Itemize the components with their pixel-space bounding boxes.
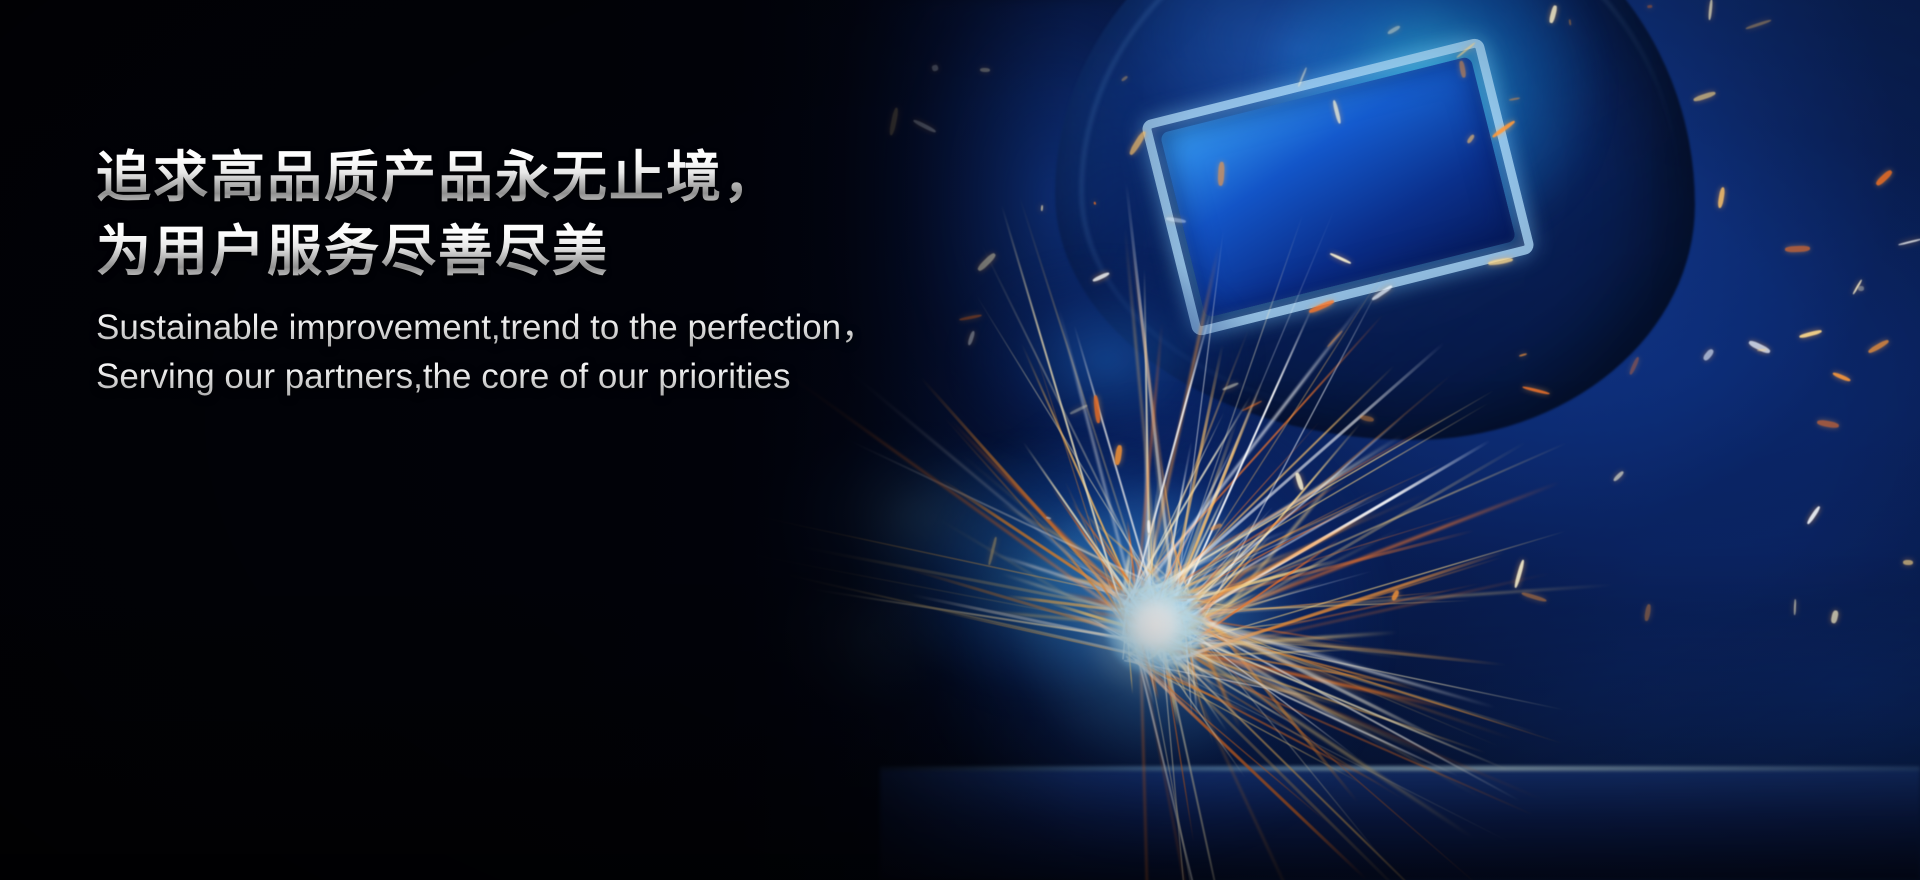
stray-spark bbox=[1745, 19, 1771, 31]
stray-spark bbox=[1128, 130, 1147, 156]
headline-cn-line-1: 追求高品质产品永无止境， bbox=[96, 140, 996, 214]
stray-spark bbox=[1867, 338, 1889, 354]
stray-spark bbox=[931, 65, 938, 72]
hero-copy: 追求高品质产品永无止境， 为用户服务尽善尽美 Sustainable impro… bbox=[96, 140, 996, 400]
stray-spark bbox=[1456, 42, 1476, 59]
stray-spark bbox=[1903, 560, 1913, 565]
subhead-en-line-2: Serving our partners,the core of our pri… bbox=[96, 353, 996, 400]
stray-spark bbox=[1521, 592, 1547, 604]
stray-spark bbox=[980, 68, 991, 72]
stray-spark bbox=[1294, 472, 1304, 491]
stray-spark bbox=[1488, 256, 1514, 265]
stray-spark bbox=[1569, 19, 1572, 26]
stray-spark bbox=[889, 108, 900, 136]
stray-spark bbox=[1492, 120, 1516, 139]
stray-spark bbox=[1387, 25, 1401, 36]
welding-arc-core bbox=[1105, 575, 1205, 675]
stray-spark bbox=[1114, 444, 1123, 465]
stray-spark bbox=[1612, 470, 1624, 482]
stray-spark bbox=[1708, 0, 1713, 20]
stray-spark bbox=[1166, 217, 1186, 224]
headline-cn-line-2: 为用户服务尽善尽美 bbox=[96, 214, 996, 288]
stray-spark bbox=[1647, 5, 1652, 9]
stray-spark bbox=[1332, 100, 1342, 124]
stray-spark bbox=[1519, 353, 1527, 357]
stray-spark bbox=[1548, 5, 1557, 23]
stray-spark bbox=[1147, 520, 1150, 533]
spark-rays bbox=[0, 0, 1920, 880]
stray-spark bbox=[1121, 75, 1129, 82]
stray-spark bbox=[1092, 271, 1110, 282]
stray-spark bbox=[1817, 419, 1840, 429]
subhead-en-line-1: Sustainable improvement,trend to the per… bbox=[96, 304, 996, 351]
hero-banner: 追求高品质产品永无止境， 为用户服务尽善尽美 Sustainable impro… bbox=[0, 0, 1920, 880]
stray-spark bbox=[1806, 505, 1821, 525]
stray-spark bbox=[1793, 599, 1796, 615]
stray-spark bbox=[1644, 604, 1652, 622]
stray-spark bbox=[1093, 201, 1096, 205]
stray-spark bbox=[1702, 348, 1715, 362]
stray-spark bbox=[1785, 246, 1810, 253]
stray-spark bbox=[1898, 239, 1920, 247]
stray-spark bbox=[1514, 560, 1526, 589]
stray-spark bbox=[1330, 252, 1352, 264]
stray-spark bbox=[1360, 414, 1375, 422]
stray-spark bbox=[1748, 339, 1771, 354]
stray-spark bbox=[1458, 61, 1466, 78]
stray-spark bbox=[1832, 372, 1852, 383]
stray-spark bbox=[1858, 286, 1864, 291]
stray-spark bbox=[1693, 91, 1716, 103]
stray-spark bbox=[912, 119, 936, 134]
stray-spark bbox=[1717, 187, 1726, 209]
stray-spark bbox=[1040, 205, 1043, 211]
stray-spark bbox=[1297, 67, 1307, 87]
stray-spark bbox=[1466, 134, 1475, 144]
stray-spark bbox=[1798, 329, 1821, 338]
stray-spark bbox=[1830, 610, 1838, 624]
stray-spark bbox=[1629, 357, 1640, 376]
stray-spark bbox=[1875, 169, 1893, 187]
stray-spark bbox=[1222, 382, 1239, 391]
stray-spark bbox=[988, 537, 997, 565]
stray-spark bbox=[1218, 161, 1225, 185]
stray-spark bbox=[1509, 97, 1521, 101]
stray-spark bbox=[1522, 386, 1550, 396]
